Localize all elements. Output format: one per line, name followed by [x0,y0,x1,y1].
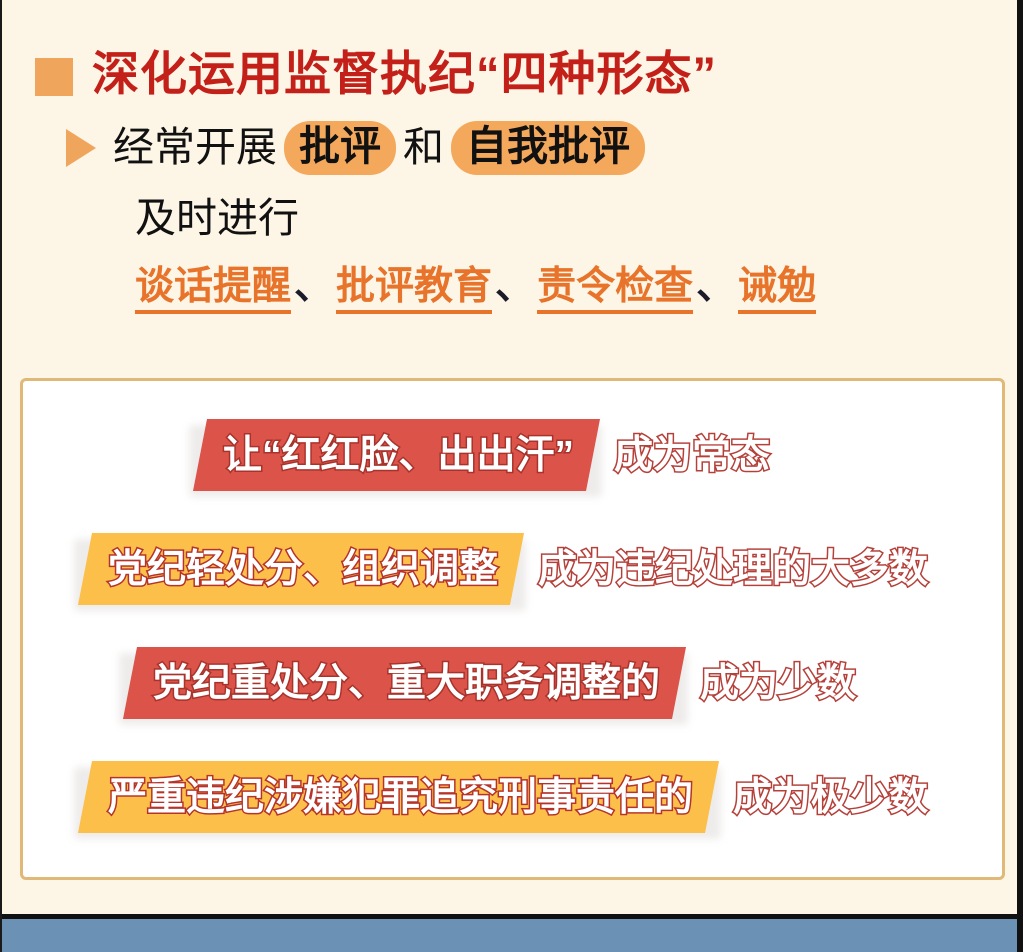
measure-term-2[interactable]: 批评教育 [336,265,492,314]
form-tail-2: 成为违纪处理的大多数 [538,550,928,589]
heading-block: 深化运用监督执纪“四种形态” 经常开展 批评 和 自我批评 及时进行 谈话提醒、… [2,0,1017,306]
four-forms-list: 让“红红脸、出出汗” 成为常态 党纪轻处分、组织调整 成为违纪处理的大多数 党纪… [23,381,1002,877]
page-title-row: 深化运用监督执纪“四种形态” [2,0,1017,97]
form-tail-4: 成为极少数 [733,778,928,817]
form-banner-label-3: 党纪重处分、重大职务调整的 [153,664,660,703]
measures-line: 谈话提醒、批评教育、责令检查、诫勉 [2,239,1017,306]
form-banner-label-1: 让“红红脸、出出汗” [223,436,574,475]
form-banner-1: 让“红红脸、出出汗” [193,419,600,491]
measure-sep-3: 、 [693,265,738,308]
measure-term-1[interactable]: 谈话提醒 [135,265,291,314]
pill-badge-self-criticism: 自我批评 [451,121,645,175]
subtitle-text: 经常开展 批评 和 自我批评 [113,121,652,175]
form-banner-label-2: 党纪轻处分、组织调整 [108,550,498,589]
form-banner-3: 党纪重处分、重大职务调整的 [123,647,686,719]
measure-sep-2: 、 [492,265,537,308]
form-row-3: 党纪重处分、重大职务调整的 成为少数 [123,647,856,719]
form-banner-4: 严重违纪涉嫌犯罪追究刑事责任的 [78,761,719,833]
form-row-1: 让“红红脸、出出汗” 成为常态 [193,419,770,491]
form-banner-2: 党纪轻处分、组织调整 [78,533,524,605]
form-banner-label-4: 严重违纪涉嫌犯罪追究刑事责任的 [108,778,693,817]
pill-badge-criticism: 批评 [284,121,396,175]
measure-term-4[interactable]: 诫勉 [738,265,816,314]
page-title: 深化运用监督执纪“四种形态” [92,50,717,97]
form-tail-1: 成为常态 [614,436,770,475]
line-timely-action: 及时进行 [2,175,1017,239]
subtitle-conjunction: 和 [403,125,444,170]
measure-sep-1: 、 [291,265,336,308]
four-forms-card: 让“红红脸、出出汗” 成为常态 党纪轻处分、组织调整 成为违纪处理的大多数 党纪… [20,378,1005,880]
triangle-marker-icon [66,129,96,167]
subtitle-row: 经常开展 批评 和 自我批评 [2,97,1017,175]
poster-root: 深化运用监督执纪“四种形态” 经常开展 批评 和 自我批评 及时进行 谈话提醒、… [0,0,1023,952]
form-tail-3: 成为少数 [700,664,856,703]
square-bullet-icon [35,58,73,96]
subtitle-prefix: 经常开展 [113,125,277,170]
form-row-2: 党纪轻处分、组织调整 成为违纪处理的大多数 [78,533,928,605]
bottom-strip [2,919,1017,952]
measure-term-3[interactable]: 责令检查 [537,265,693,314]
form-row-4: 严重违纪涉嫌犯罪追究刑事责任的 成为极少数 [78,761,928,833]
